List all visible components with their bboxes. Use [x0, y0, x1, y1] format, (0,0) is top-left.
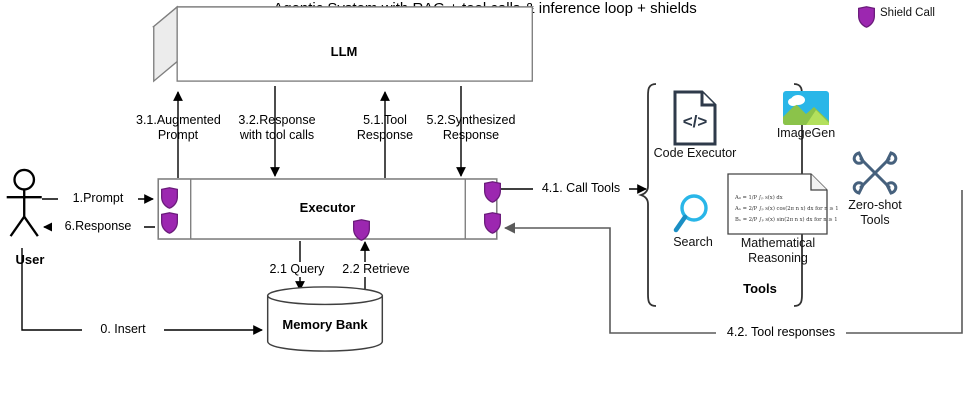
- user-head-icon: [14, 170, 33, 189]
- image-picture-icon[interactable]: [782, 90, 830, 126]
- shield-exec-in-top[interactable]: [160, 187, 179, 209]
- shield-exec-memory[interactable]: [352, 219, 371, 241]
- svg-text:A₀ = 1/P ∫ₚ s(x) dx: A₀ = 1/P ∫ₚ s(x) dx: [734, 194, 783, 201]
- code-document-icon[interactable]: </>: [672, 90, 718, 146]
- svg-text:Bₙ = 2/P ∫ₚ s(x) sin(2π n x) d: Bₙ = 2/P ∫ₚ s(x) sin(2π n x) dx for n ≥ …: [735, 216, 838, 223]
- edge-label-0-insert: 0. Insert: [82, 322, 164, 337]
- edge-label-2-2-retrieve: 2.2 Retrieve: [334, 262, 418, 277]
- memory-bank-label: Memory Bank: [265, 317, 385, 332]
- executor-label: Executor: [155, 200, 500, 215]
- edge-label-6-response: 6.Response: [52, 219, 144, 234]
- edge-label-1-prompt: 1.Prompt: [58, 191, 138, 206]
- tools-group-label: Tools: [700, 281, 820, 296]
- edge-label-3-2: 3.2.Response with tool calls: [231, 113, 323, 143]
- user-leg-left: [11, 217, 25, 236]
- tool-label-zero-shot-tools: Zero-shot Tools: [833, 198, 917, 228]
- edge-label-4-1-call-tools: 4.1. Call Tools: [533, 181, 629, 196]
- edge-label-3-1: 3.1.Augmented Prompt: [136, 113, 220, 143]
- formula-document-icon[interactable]: A₀ = 1/P ∫ₚ s(x) dx Aₙ = 2/P ∫ₚ s(x) cos…: [727, 173, 828, 235]
- svg-text:Aₙ = 2/P ∫ₚ s(x) cos(2π n x) d: Aₙ = 2/P ∫ₚ s(x) cos(2π n x) dx for n ≥ …: [734, 205, 839, 212]
- edge-label-5-2: 5.2.Synthesized Response: [423, 113, 519, 143]
- left-brace: [641, 84, 656, 306]
- svg-text:</>: </>: [683, 112, 708, 131]
- shield-exec-in-bottom[interactable]: [160, 212, 179, 234]
- tool-label-imagegen: ImageGen: [766, 126, 846, 141]
- user-label: User: [0, 252, 60, 267]
- shield-legend: [857, 6, 876, 28]
- shield-exec-out-bottom[interactable]: [483, 212, 502, 234]
- crossed-wrenches-icon[interactable]: [850, 148, 900, 198]
- tool-label-code-executor: Code Executor: [648, 146, 742, 161]
- tool-label-mathematical-reasoning: Mathematical Reasoning: [717, 236, 839, 266]
- legend-label-shield-call: Shield Call: [880, 7, 935, 19]
- user-leg-right: [24, 217, 38, 236]
- llm-label: LLM: [150, 44, 538, 59]
- shield-exec-out-top[interactable]: [483, 181, 502, 203]
- magnifier-icon[interactable]: [672, 193, 712, 235]
- cylinder-top: [268, 287, 383, 304]
- edge-label-5-1: 5.1.Tool Response: [347, 113, 423, 143]
- edge-label-2-1-query: 2.1 Query: [262, 262, 332, 277]
- edge-label-4-2-tool-responses: 4.2. Tool responses: [716, 325, 846, 340]
